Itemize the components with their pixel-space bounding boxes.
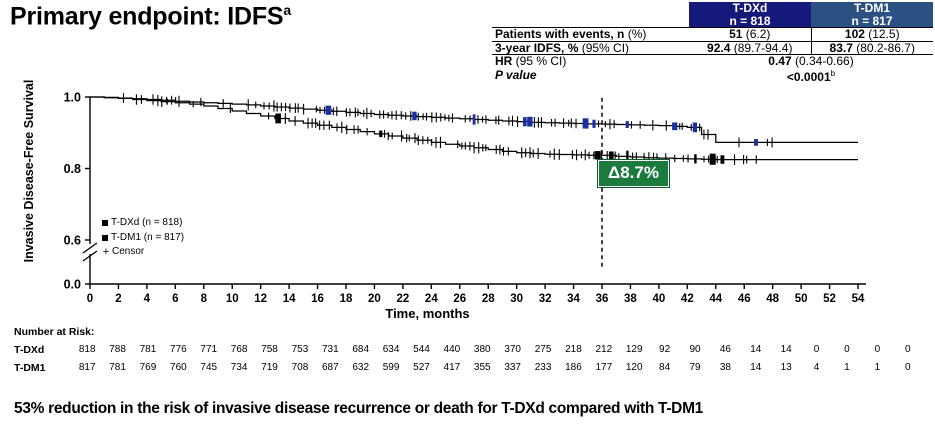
stats-row-hr-label-rest: (95 % CI) <box>512 54 566 68</box>
censor-tick-mark <box>392 133 393 140</box>
stats-row-events-label: Patients with events, n (%) <box>492 28 689 42</box>
censor-tick-mark <box>568 120 569 127</box>
censor-tick-mark <box>477 115 478 124</box>
number-at-risk-cell: 92 <box>649 344 679 355</box>
number-at-risk-cell: 417 <box>437 362 467 373</box>
stats-row-events-tdm1: 102 (12.5) <box>811 28 933 42</box>
censor-tick-mark <box>485 115 486 124</box>
stats-row-events-label-rest: (%) <box>624 27 646 41</box>
km-curve-tdm1 <box>90 94 858 165</box>
censor-tick-mark <box>703 156 704 162</box>
number-at-risk-values-tdxd: 8187887817767717687587537316846345444403… <box>72 344 923 355</box>
x-axis-tick-label: 54 <box>852 293 865 305</box>
censor-tick-mark <box>679 123 680 129</box>
number-at-risk-cell: 719 <box>254 362 284 373</box>
number-at-risk-cell: 440 <box>437 344 467 355</box>
censor-tick-mark <box>691 124 692 131</box>
stats-row-idfs-label-rest: (95% CI) <box>578 41 629 55</box>
number-at-risk-cell: 1 <box>832 362 862 373</box>
number-at-risk-cell: 13 <box>771 362 801 373</box>
censor-tick-mark <box>496 145 497 154</box>
censor-tick-mark <box>652 120 653 130</box>
censor-tick-mark <box>268 112 269 119</box>
number-at-risk-cell: 753 <box>285 344 315 355</box>
censor-tick-mark <box>289 104 290 113</box>
page-title: Primary endpoint: IDFSa <box>10 2 291 31</box>
censor-tick-mark <box>355 107 356 117</box>
censor-tick-mark <box>699 124 700 132</box>
censor-tick-mark <box>193 101 194 107</box>
censor-tick-mark <box>418 135 419 145</box>
stats-header-tdxd-name: T-DXd <box>692 2 808 15</box>
censor-tick-mark <box>559 149 560 160</box>
number-at-risk-row-tdm1: T-DM1 8177817697607457347197086876325995… <box>14 362 95 380</box>
censor-tick-mark <box>200 98 201 106</box>
censor-tick-mark <box>607 151 608 160</box>
censor-tick-mark <box>469 116 470 123</box>
x-axis-tick-label: 20 <box>368 293 381 305</box>
censor-tick-mark <box>609 119 610 129</box>
number-at-risk-cell: 38 <box>710 362 740 373</box>
plot-curves <box>90 93 858 165</box>
number-at-risk-cell: 771 <box>194 344 224 355</box>
x-axis-tick-label: 48 <box>766 293 779 305</box>
footer-statement: 53% reduction in the risk of invasive di… <box>14 400 703 418</box>
censor-tick-mark <box>549 151 550 158</box>
censor-tick-mark <box>319 121 320 130</box>
censor-tick-mark <box>754 139 758 146</box>
stats-row-idfs-tdm1-rest: (80.2-86.7) <box>853 41 915 55</box>
censor-tick-mark <box>346 108 347 117</box>
number-at-risk-cell: 120 <box>619 362 649 373</box>
number-at-risk-cell: 527 <box>406 362 436 373</box>
censor-tick-mark <box>688 154 689 162</box>
censor-tick-mark <box>666 120 667 130</box>
x-axis-tick-label: 50 <box>795 293 808 305</box>
x-axis-tick-label: 2 <box>115 293 121 305</box>
stats-row-hr-value-bold: 0.47 <box>768 54 791 68</box>
stats-row-idfs-tdxd: 92.4 (89.7-94.4) <box>689 41 811 55</box>
censor-tick-mark <box>482 116 483 122</box>
censor-tick-mark <box>538 117 539 127</box>
censor-tick-mark <box>391 111 392 119</box>
x-axis-tick-label: 44 <box>709 293 722 305</box>
number-at-risk-cell: 776 <box>163 344 193 355</box>
number-at-risk-cell: 745 <box>194 362 224 373</box>
censor-tick-mark <box>609 151 614 159</box>
stats-table-row-hr: HR (95 % CI) 0.47 (0.34-0.66) <box>492 55 933 68</box>
censor-tick-mark <box>512 116 513 127</box>
legend-item-tdm1: T-DM1 (n = 817) <box>102 231 184 246</box>
page-title-text: Primary endpoint: IDFS <box>10 2 283 30</box>
stats-row-hr-value-rest: (0.34-0.66) <box>792 54 854 68</box>
stats-row-hr-value: 0.47 (0.34-0.66) <box>689 55 933 68</box>
number-at-risk-label-tdm1: T-DM1 <box>14 362 46 374</box>
x-axis-tick-label: 18 <box>340 293 353 305</box>
censor-tick-mark <box>171 96 172 105</box>
censor-tick-mark <box>457 140 458 148</box>
censor-tick-mark <box>324 107 325 114</box>
number-at-risk-cell: 233 <box>528 362 558 373</box>
number-at-risk-cell: 0 <box>893 344 923 355</box>
censor-tick-mark <box>315 118 316 128</box>
censor-tick-mark <box>412 112 416 121</box>
number-at-risk-table: Number at Risk: T-DXd 818788781776771768… <box>14 326 95 380</box>
censor-tick-mark <box>298 103 299 112</box>
number-at-risk-cell: 370 <box>497 344 527 355</box>
km-plot: 0.00.60.81.00246810121416182022242628303… <box>0 72 935 322</box>
censor-tick-mark <box>517 116 518 127</box>
censor-tick-mark <box>418 113 419 121</box>
censor-tick-mark <box>534 117 535 128</box>
censor-tick-icon: + <box>102 247 110 257</box>
censor-tick-mark <box>427 137 428 144</box>
legend-label-tdxd: T-DXd (n = 818) <box>111 216 182 231</box>
stats-row-idfs-tdm1: 83.7 (80.2-86.7) <box>811 41 933 55</box>
censor-tick-mark <box>358 126 359 134</box>
number-at-risk-label-tdxd: T-DXd <box>14 344 44 356</box>
censor-tick-mark <box>248 99 249 110</box>
censor-tick-mark <box>136 94 137 105</box>
censor-tick-mark <box>435 137 436 148</box>
censor-tick-mark <box>167 98 168 104</box>
x-axis-tick-label: 42 <box>681 293 694 305</box>
number-at-risk-cell: 337 <box>497 362 527 373</box>
x-axis-tick-label: 22 <box>396 293 409 305</box>
censor-tick-mark <box>152 94 153 104</box>
slide-root: Primary endpoint: IDFSa T-DXd n = 818 T-… <box>0 0 935 434</box>
x-axis-tick-label: 46 <box>738 293 751 305</box>
number-at-risk-cell: 544 <box>406 344 436 355</box>
number-at-risk-cell: 1 <box>862 362 892 373</box>
censor-tick-mark <box>141 95 142 104</box>
censor-tick-mark <box>223 99 224 108</box>
stats-row-idfs-tdm1-value: 83.7 <box>830 41 853 55</box>
censor-tick-mark <box>379 131 382 138</box>
censor-tick-mark <box>281 103 282 112</box>
censor-tick-mark <box>255 102 256 109</box>
number-at-risk-title: Number at Risk: <box>14 326 95 338</box>
censor-tick-mark <box>734 154 735 165</box>
censor-tick-mark <box>307 118 308 129</box>
x-axis-tick-label: 32 <box>539 293 552 305</box>
censor-tick-mark <box>508 117 509 126</box>
stats-row-idfs-tdxd-rest: (89.7-94.4) <box>730 41 792 55</box>
censor-tick-mark <box>527 117 532 127</box>
y-axis-tick-label: 0.8 <box>64 162 81 176</box>
censor-tick-mark <box>626 121 629 128</box>
censor-tick-mark <box>357 109 358 116</box>
censor-tick-mark <box>583 118 589 128</box>
censor-tick-mark <box>746 156 747 164</box>
censor-tick-mark <box>589 152 590 159</box>
number-at-risk-cell: 0 <box>801 344 831 355</box>
censor-tick-mark <box>615 151 616 159</box>
censor-tick-mark <box>672 122 677 130</box>
delta-badge: Δ8.7% <box>598 160 669 187</box>
x-axis-tick-label: 30 <box>510 293 523 305</box>
number-at-risk-cell: 734 <box>224 362 254 373</box>
chart-legend: T-DXd (n = 818) T-DM1 (n = 817) + Censor <box>102 216 184 260</box>
censor-tick-mark <box>682 123 683 130</box>
number-at-risk-cell: 758 <box>254 344 284 355</box>
censor-tick-mark <box>618 153 619 160</box>
censor-tick-mark <box>303 104 304 115</box>
censor-tick-mark <box>767 139 768 146</box>
censor-tick-mark <box>440 113 441 121</box>
censor-tick-mark <box>563 118 564 128</box>
censor-tick-mark <box>640 121 641 129</box>
number-at-risk-cell: 275 <box>528 344 558 355</box>
stats-table-header-blank <box>492 2 689 28</box>
stats-table: T-DXd n = 818 T-DM1 n = 817 Patients wit… <box>492 2 933 83</box>
censor-tick-mark <box>341 122 342 133</box>
censor-tick-mark <box>367 128 368 135</box>
number-at-risk-cell: 634 <box>376 344 406 355</box>
stats-table-header-tdm1: T-DM1 n = 817 <box>811 2 933 28</box>
page-title-superscript: a <box>283 2 291 18</box>
legend-label-tdm1: T-DM1 (n = 817) <box>111 231 184 246</box>
censor-tick-mark <box>717 156 718 163</box>
censor-tick-mark <box>333 107 334 115</box>
censor-tick-mark <box>414 133 415 143</box>
number-at-risk-values-tdm1: 8177817697607457347197086876325995274173… <box>72 362 923 373</box>
number-at-risk-cell: 731 <box>315 344 345 355</box>
censor-tick-mark <box>326 106 332 115</box>
censor-tick-mark <box>396 111 397 120</box>
number-at-risk-cell: 355 <box>467 362 497 373</box>
censor-tick-mark <box>422 136 423 144</box>
number-at-risk-cell: 79 <box>680 362 710 373</box>
number-at-risk-cell: 788 <box>102 344 132 355</box>
censor-tick-mark <box>329 121 330 130</box>
censor-tick-mark <box>478 142 479 153</box>
legend-label-censor: Censor <box>112 245 144 260</box>
censor-tick-mark <box>388 132 389 140</box>
number-at-risk-cell: 0 <box>862 344 892 355</box>
censor-tick-mark <box>465 142 466 149</box>
x-axis-tick-label: 28 <box>482 293 495 305</box>
number-at-risk-cell: 14 <box>741 344 771 355</box>
censor-tick-mark <box>157 95 158 106</box>
legend-square-icon-tdm1 <box>102 235 108 241</box>
stats-row-events-tdm1-rest: (12.5) <box>865 27 900 41</box>
censor-tick-mark <box>585 150 586 161</box>
x-axis-tick-label: 26 <box>453 293 466 305</box>
censor-tick-mark <box>533 150 534 158</box>
censor-tick-mark <box>694 154 696 163</box>
number-at-risk-cell: 0 <box>893 362 923 373</box>
stats-row-idfs-label: 3-year IDFS, % (95% CI) <box>492 41 689 55</box>
censor-tick-mark <box>756 155 757 163</box>
censor-tick-mark <box>423 113 424 119</box>
censor-tick-mark <box>295 103 296 113</box>
censor-tick-mark <box>431 139 432 146</box>
censor-tick-mark <box>503 147 504 156</box>
censor-tick-mark <box>541 117 542 128</box>
stats-row-events-label-bold: Patients with events, n <box>495 27 624 41</box>
censor-tick-mark <box>521 147 522 158</box>
censor-tick-mark <box>554 149 555 160</box>
stats-row-idfs-label-bold: 3-year IDFS, % <box>495 41 578 55</box>
censor-tick-mark <box>452 114 453 123</box>
censor-tick-mark <box>674 155 675 162</box>
stats-row-hr-label-bold: HR <box>495 54 512 68</box>
censor-tick-mark <box>498 116 499 125</box>
x-axis-tick-label: 12 <box>254 293 267 305</box>
number-at-risk-cell: 90 <box>680 344 710 355</box>
number-at-risk-cell: 687 <box>315 362 345 373</box>
number-at-risk-cell: 599 <box>376 362 406 373</box>
censor-tick-mark <box>693 123 697 133</box>
censor-tick-mark <box>319 107 320 114</box>
stats-row-events-tdxd-value: 51 <box>729 27 742 41</box>
km-curve-tdxd <box>90 93 858 147</box>
stats-row-hr-label: HR (95 % CI) <box>492 55 689 68</box>
censor-tick-mark <box>523 117 527 126</box>
censor-tick-mark <box>444 114 445 120</box>
x-axis-tick-label: 36 <box>596 293 609 305</box>
number-at-risk-cell: 769 <box>133 362 163 373</box>
censor-tick-mark <box>551 119 552 127</box>
censor-tick-mark <box>275 114 281 124</box>
censor-tick-mark <box>366 108 367 119</box>
censor-tick-mark <box>538 148 539 159</box>
censor-tick-mark <box>576 150 577 161</box>
censor-tick-mark <box>436 112 437 122</box>
censor-tick-mark <box>631 121 632 128</box>
censor-tick-mark <box>614 120 615 128</box>
censor-tick-mark <box>161 96 162 107</box>
censor-tick-mark <box>703 130 704 140</box>
number-at-risk-cell: 46 <box>710 344 740 355</box>
censor-tick-mark <box>710 154 716 165</box>
censor-tick-mark <box>273 100 274 111</box>
number-at-risk-cell: 186 <box>558 362 588 373</box>
number-at-risk-cell: 4 <box>801 362 831 373</box>
censor-tick-mark <box>285 113 286 124</box>
censor-tick-mark <box>277 102 278 111</box>
censor-tick-mark <box>592 120 595 128</box>
number-at-risk-cell: 632 <box>346 362 376 373</box>
x-axis-tick-label: 6 <box>172 293 178 305</box>
censor-tick-mark <box>529 147 530 158</box>
censor-tick-mark <box>482 144 483 151</box>
legend-square-icon-tdxd <box>102 220 108 226</box>
censor-tick-mark <box>269 102 270 109</box>
censor-tick-mark <box>316 106 317 113</box>
stats-row-events-tdm1-value: 102 <box>845 27 865 41</box>
censor-tick-mark <box>593 151 594 159</box>
censor-tick-mark <box>401 111 402 119</box>
number-at-risk-cell: 817 <box>72 362 102 373</box>
x-axis-tick-label: 38 <box>624 293 637 305</box>
number-at-risk-cell: 760 <box>163 362 193 373</box>
censor-tick-mark <box>495 116 496 124</box>
censor-tick-mark <box>431 112 432 122</box>
censor-tick-mark <box>178 96 179 107</box>
censor-tick-mark <box>605 121 606 127</box>
stats-row-events-tdxd: 51 (6.2) <box>689 28 811 42</box>
stats-table-header-tdxd: T-DXd n = 818 <box>689 2 811 28</box>
censor-tick-mark <box>465 115 466 122</box>
censor-tick-mark <box>595 151 601 159</box>
censor-tick-mark <box>571 118 572 127</box>
number-at-risk-cell: 380 <box>467 344 497 355</box>
number-at-risk-cell: 781 <box>133 344 163 355</box>
number-at-risk-row-tdxd: T-DXd 8187887817767717687587537316846345… <box>14 344 95 362</box>
censor-tick-mark <box>388 112 389 118</box>
x-axis-tick-label: 4 <box>144 293 151 305</box>
censor-tick-mark <box>473 114 476 124</box>
censor-tick-mark <box>499 145 500 155</box>
censor-tick-mark <box>406 134 407 142</box>
x-axis-tick-label: 40 <box>652 293 665 305</box>
number-at-risk-cell: 212 <box>589 344 619 355</box>
plot-tick-labels: 0.00.60.81.00246810121416182022242628303… <box>64 91 865 306</box>
censor-tick-mark <box>285 103 286 111</box>
number-at-risk-cell: 0 <box>832 344 862 355</box>
censor-tick-mark <box>405 112 406 119</box>
censor-tick-mark <box>707 129 708 139</box>
censor-tick-mark <box>383 110 384 118</box>
censor-tick-mark <box>508 147 509 155</box>
censor-tick-mark <box>401 130 402 141</box>
y-axis-title: Invasive Disease-Free Survival <box>22 66 36 276</box>
censor-tick-mark <box>349 108 350 116</box>
censor-tick-mark <box>336 123 337 131</box>
number-at-risk-cell: 84 <box>649 362 679 373</box>
censor-tick-mark <box>485 144 486 151</box>
number-at-risk-cell: 818 <box>72 344 102 355</box>
censor-tick-mark <box>230 104 231 113</box>
censor-tick-mark <box>426 113 427 121</box>
number-at-risk-cell: 218 <box>558 344 588 355</box>
censor-tick-mark <box>354 125 355 134</box>
censor-tick-mark <box>440 137 441 148</box>
censor-tick-mark <box>363 110 364 117</box>
stats-row-events-tdxd-rest: (6.2) <box>742 27 770 41</box>
number-at-risk-cell: 708 <box>285 362 315 373</box>
censor-tick-mark <box>720 155 724 163</box>
x-axis-tick-label: 34 <box>567 293 580 305</box>
censor-tick-mark <box>708 156 709 163</box>
x-axis-tick-label: 16 <box>311 293 324 305</box>
number-at-risk-cell: 14 <box>741 362 771 373</box>
censor-tick-mark <box>409 135 410 141</box>
censor-tick-mark <box>384 130 385 138</box>
censor-tick-mark <box>572 150 573 159</box>
censor-tick-mark <box>336 107 337 117</box>
number-at-risk-cell: 781 <box>102 362 132 373</box>
stats-header-tdm1-name: T-DM1 <box>814 2 930 15</box>
censor-tick-mark <box>371 110 372 117</box>
censor-tick-mark <box>323 121 324 130</box>
km-plot-svg: 0.00.60.81.00246810121416182022242628303… <box>0 72 935 322</box>
number-at-risk-cell: 177 <box>589 362 619 373</box>
x-axis-tick-label: 10 <box>226 293 239 305</box>
stats-header-tdxd-n: n = 818 <box>692 15 808 28</box>
censor-tick-mark <box>474 142 475 153</box>
stats-header-tdm1-n: n = 817 <box>814 15 930 28</box>
y-axis-tick-label: 0.0 <box>64 278 81 292</box>
censor-tick-mark <box>683 155 684 162</box>
censor-tick-mark <box>555 119 556 127</box>
censor-tick-mark <box>598 120 599 127</box>
censor-tick-mark <box>575 119 576 128</box>
stats-table-header-row: T-DXd n = 818 T-DM1 n = 817 <box>492 2 933 28</box>
censor-tick-mark <box>461 143 462 150</box>
